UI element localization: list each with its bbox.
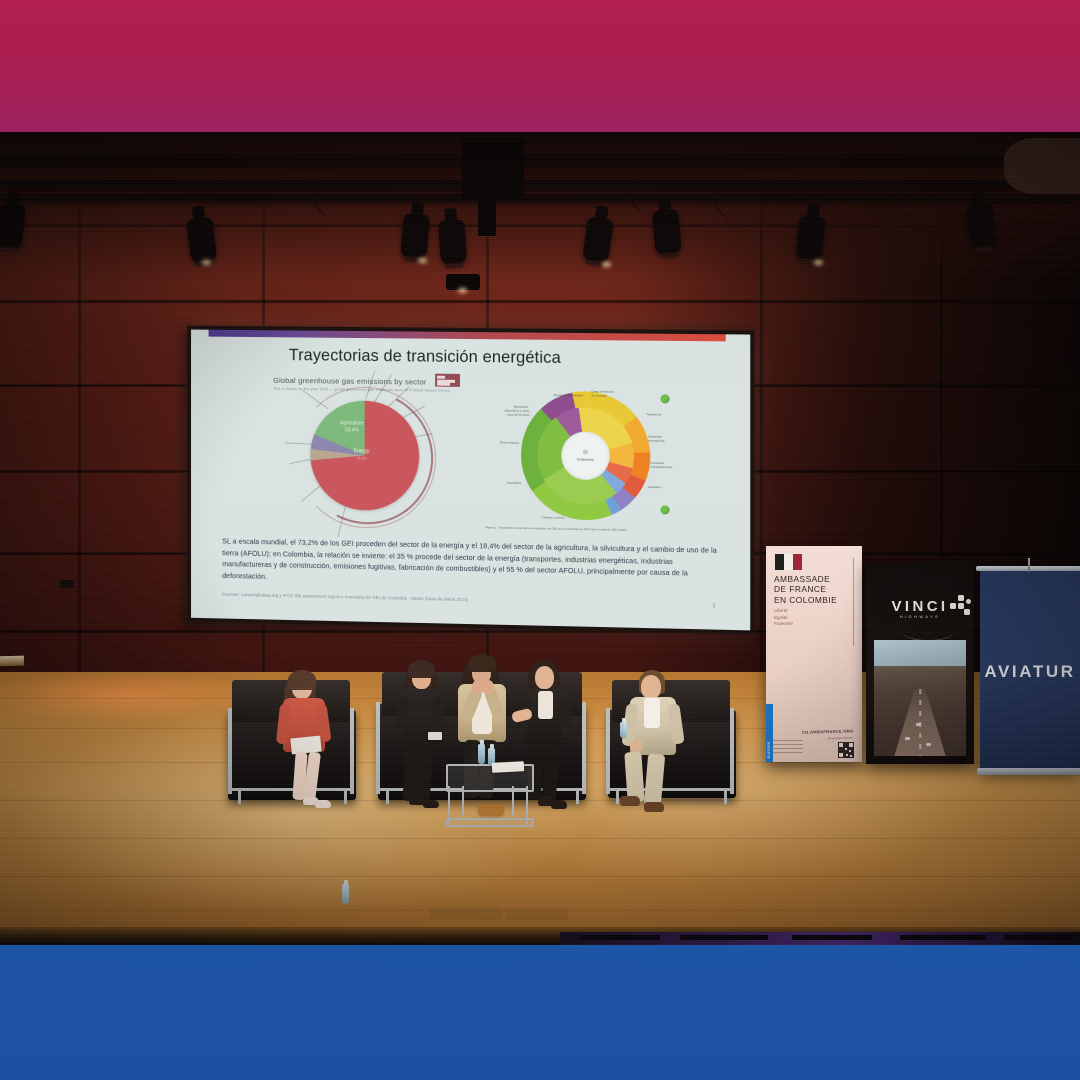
stage-lamp: [966, 203, 996, 249]
water-bottle[interactable]: [342, 884, 349, 904]
owid-logo-badge: [435, 374, 460, 387]
stage-lamp: [438, 219, 467, 265]
photo-car: [905, 737, 910, 740]
donut-center: ◎ Emisiones: [561, 431, 609, 480]
donut-label: Industriasmanufactureras: [650, 461, 681, 470]
donut-chart-colombia-emissions: ◎ Emisiones Agricultura,silvicultura y o…: [479, 384, 681, 538]
item-under-table: [478, 804, 504, 816]
pie-label-energy: Energy73.2%: [354, 448, 370, 461]
pie-chart-global-emissions: Energy73.2% Agriculture18.4%: [289, 392, 437, 524]
head: [641, 675, 661, 699]
ceiling-reflector: [1004, 138, 1080, 194]
social-post-frame: Trayectorias de transición energética Gl…: [0, 0, 1080, 1080]
pie-label-afolu: Agriculture18.4%: [340, 420, 364, 433]
shoe: [423, 800, 439, 808]
photo-car: [916, 723, 921, 726]
floor-tape-marker: [430, 908, 502, 918]
top-color-band: [0, 0, 1080, 132]
house-light-glow: [458, 288, 467, 293]
projection-screen: Trayectorias de transición energética Gl…: [191, 330, 750, 631]
chart-caption-text: Global greenhouse gas emissions by secto…: [273, 376, 427, 387]
presentation-slide: Trayectorias de transición energética Gl…: [191, 330, 750, 631]
stage-lamp: [652, 209, 682, 255]
event-photograph: Trayectorias de transición energética Gl…: [0, 132, 1080, 945]
bottom-color-band: [0, 945, 1080, 1080]
lighting-truss-lower: [0, 180, 1080, 189]
leg: [624, 751, 644, 802]
banner-decorative-lines: [773, 740, 803, 756]
figure-caption: Figura 1 - Repartición sectorial de emis…: [485, 525, 627, 532]
donut-center-icon: ◎: [561, 448, 609, 456]
orchestra-pit-lighting: [560, 932, 1080, 945]
slide-page-number: 2: [713, 603, 716, 609]
shirt: [644, 698, 660, 728]
donut-label: Procesos industriales: [531, 393, 583, 398]
stage-riser-left: [0, 656, 24, 667]
donut-label: Industriasenergéticas: [648, 434, 681, 443]
photo-car: [926, 743, 931, 746]
stage-lamp: [186, 216, 217, 263]
donut-label: Residuos: [648, 485, 681, 490]
qr-code[interactable]: [838, 742, 854, 758]
slide-source-note: Fuentes: ourworldindata.org y IPCC 6th a…: [222, 592, 468, 602]
phone-or-notes[interactable]: [428, 732, 442, 740]
banner-motto: Liberté Égalité Fraternité: [774, 608, 793, 628]
banner-hashtag: #FranceEnColombie: [827, 737, 852, 741]
vinci-logo-mark-icon: [950, 595, 972, 617]
water-bottle[interactable]: [620, 722, 627, 738]
banner-side-tab: EUROPE: [766, 704, 773, 762]
donut-label: Agricultura,silvicultura y otrosusos de …: [481, 404, 529, 417]
shoe: [315, 800, 331, 808]
lighting-truss-upper: [0, 154, 1080, 165]
shoe: [644, 802, 664, 812]
banner-vinci-highways: VINCI HIGHWAYS: [866, 562, 974, 764]
speaker-array-lower: [478, 200, 496, 236]
french-flag-icon: [775, 554, 802, 570]
hand: [630, 740, 643, 752]
banner-aviatur: AVIATUR: [980, 570, 1080, 770]
blouse: [538, 691, 553, 719]
stage-lamp: [795, 215, 825, 261]
aviatur-logo-text: AVIATUR: [980, 662, 1080, 682]
donut-legend-dot: [660, 394, 669, 403]
hair-front: [468, 654, 496, 672]
shoe: [620, 796, 640, 806]
hair-front: [288, 670, 316, 690]
donut-label: Otras emisionesde energía: [592, 389, 641, 398]
donut-legend-dot: [660, 505, 669, 514]
vinci-curve-line: [902, 622, 954, 641]
hair-front: [408, 660, 435, 678]
donut-center-label: Emisiones: [561, 457, 609, 462]
donut-label: Transporte: [646, 412, 681, 417]
banner-pole: [1028, 558, 1030, 572]
vinci-highway-photo: [874, 640, 966, 756]
stage-lamp: [400, 213, 430, 259]
banner-ambassade-de-france: AMBASSADE DE FRANCE EN COLOMBIE Liberté …: [766, 546, 862, 762]
banner-base-rail: [977, 768, 1080, 775]
papers-on-table[interactable]: [492, 761, 524, 773]
slide-title: Trayectorias de transición energética: [289, 346, 561, 368]
donut-label: Deforestación: [479, 440, 519, 445]
photo-sky: [874, 640, 966, 666]
banner-divider-rule: [853, 558, 854, 646]
donut-label: Cultivos y suelos: [541, 515, 601, 520]
coffee-table-lower-shelf: [446, 818, 534, 827]
shoe: [551, 800, 567, 809]
donut-label: Ganadería: [479, 480, 521, 485]
floor-tape-marker: [506, 908, 568, 918]
water-bottle[interactable]: [478, 744, 485, 764]
wall-outlet: [60, 580, 74, 588]
hand: [482, 680, 494, 694]
banner-url: CO.AMBAFRANCE.ORG: [802, 728, 854, 734]
slide-body-text: SL a escala mundial, el 73,2% de los GEI…: [222, 535, 719, 591]
head: [535, 666, 554, 689]
banner-title: AMBASSADE DE FRANCE EN COLOMBIE: [774, 574, 837, 605]
speaker-array: [462, 138, 524, 200]
